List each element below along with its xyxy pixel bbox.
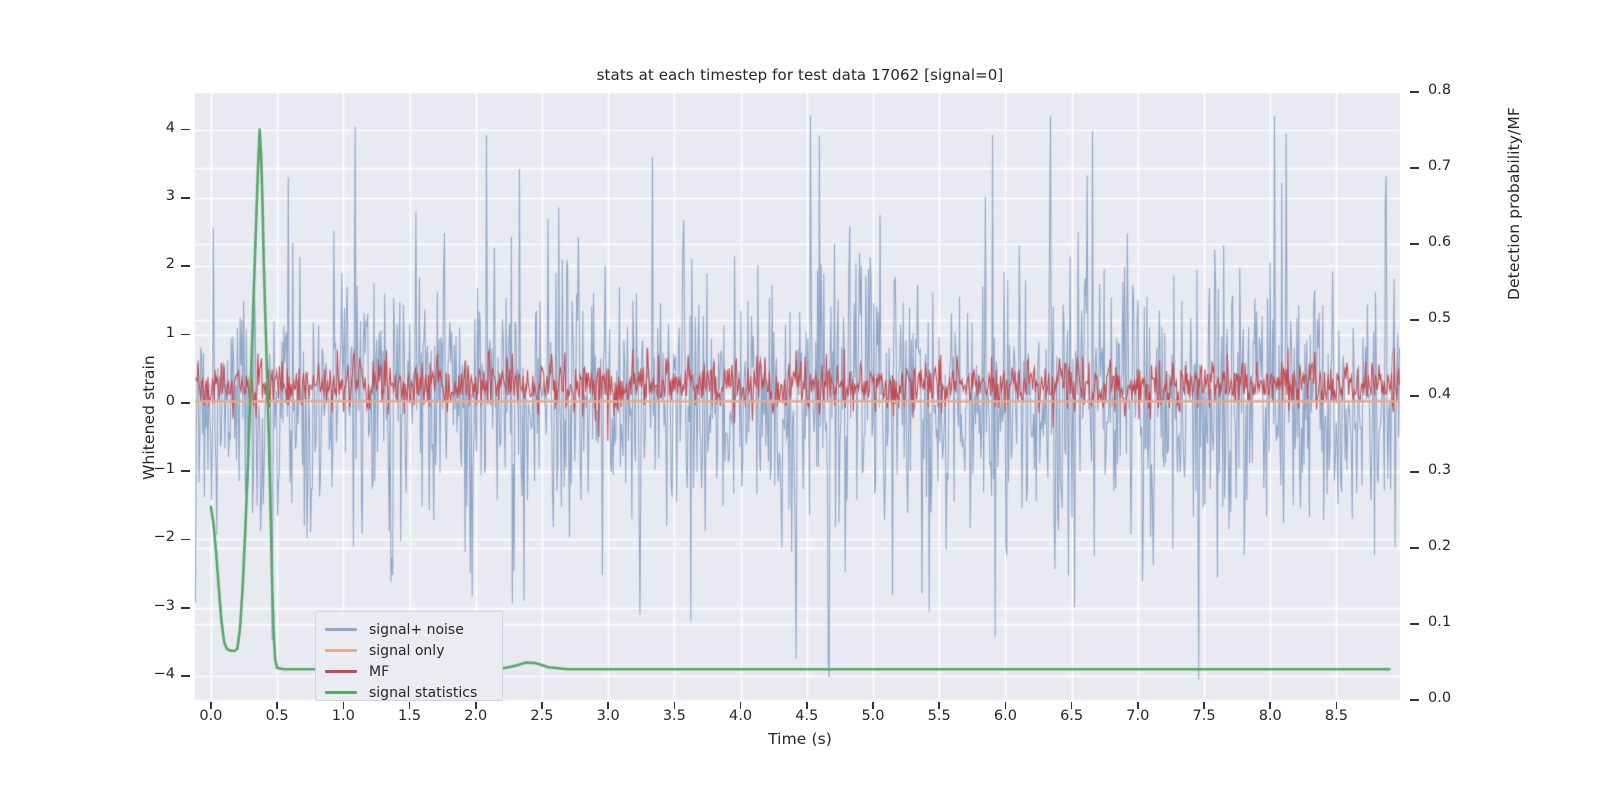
legend-label-2: MF: [369, 664, 389, 680]
x-tick-7-mark: [674, 702, 676, 709]
x-tick-1: 0.5: [247, 708, 307, 724]
x-tick-9: 4.5: [777, 708, 837, 724]
y-tick-left-1: 3: [123, 188, 175, 204]
y-tick-left-4-mark: [181, 402, 190, 404]
y-tick-left-8: −4: [123, 666, 175, 682]
legend-swatch-signal-statistics-icon: [325, 691, 357, 693]
x-tick-0-mark: [210, 702, 212, 709]
y-tick-right-0-mark: [1410, 91, 1419, 93]
x-tick-17-mark: [1336, 702, 1338, 709]
y-tick-right-3: 0.5: [1428, 310, 1488, 326]
x-tick-6: 3.0: [578, 708, 638, 724]
legend-item-3[interactable]: signal statistics: [316, 682, 502, 703]
x-tick-5: 2.5: [512, 708, 572, 724]
x-tick-3: 1.5: [380, 708, 440, 724]
y-tick-right-8-mark: [1410, 699, 1419, 701]
y-tick-left-6: −2: [123, 529, 175, 545]
chart-plot-area: [0, 0, 1600, 800]
x-tick-4-mark: [475, 702, 477, 709]
x-axis-label: Time (s): [0, 730, 1600, 748]
y-tick-right-8: 0.0: [1428, 690, 1488, 706]
y-tick-left-1-mark: [181, 197, 190, 199]
y-tick-left-5: −1: [123, 461, 175, 477]
y-tick-left-8-mark: [181, 675, 190, 677]
x-tick-10-mark: [872, 702, 874, 709]
y-axis-label-right: Detection probability/MF: [1505, 107, 1523, 300]
x-tick-6-mark: [607, 702, 609, 709]
y-tick-left-6-mark: [181, 539, 190, 541]
y-tick-right-0: 0.8: [1428, 82, 1488, 98]
x-tick-2: 1.0: [313, 708, 373, 724]
x-tick-0: 0.0: [181, 708, 241, 724]
x-tick-16-mark: [1269, 702, 1271, 709]
x-tick-12-mark: [1005, 702, 1007, 709]
x-tick-12: 6.0: [975, 708, 1035, 724]
y-tick-left-7-mark: [181, 607, 190, 609]
legend-item-1[interactable]: signal only: [316, 640, 502, 661]
legend-label-1: signal only: [369, 643, 444, 659]
y-tick-left-3-mark: [181, 334, 190, 336]
y-tick-left-7: −3: [123, 598, 175, 614]
legend-label-0: signal+ noise: [369, 622, 464, 638]
y-tick-right-2: 0.6: [1428, 234, 1488, 250]
x-tick-14: 7.0: [1108, 708, 1168, 724]
legend-swatch-signal-only-icon: [325, 649, 357, 651]
y-tick-left-4: 0: [123, 393, 175, 409]
x-tick-2-mark: [343, 702, 345, 709]
chart-legend[interactable]: signal+ noisesignal onlyMFsignal statist…: [315, 611, 503, 701]
legend-swatch-signal-noise-icon: [325, 628, 357, 630]
x-tick-17: 8.5: [1306, 708, 1366, 724]
x-tick-8-mark: [740, 702, 742, 709]
x-tick-1-mark: [276, 702, 278, 709]
x-tick-4: 2.0: [446, 708, 506, 724]
x-tick-9-mark: [806, 702, 808, 709]
y-tick-left-3: 1: [123, 325, 175, 341]
x-tick-5-mark: [541, 702, 543, 709]
x-tick-16: 8.0: [1240, 708, 1300, 724]
x-tick-13-mark: [1071, 702, 1073, 709]
y-tick-left-2: 2: [123, 256, 175, 272]
figure-canvas-container: stats at each timestep for test data 170…: [0, 0, 1600, 800]
x-tick-11: 5.5: [909, 708, 969, 724]
chart-title: stats at each timestep for test data 170…: [0, 66, 1600, 84]
x-tick-10: 5.0: [843, 708, 903, 724]
y-tick-right-5-mark: [1410, 471, 1419, 473]
y-tick-right-1: 0.7: [1428, 158, 1488, 174]
y-tick-right-7-mark: [1410, 623, 1419, 625]
y-tick-left-5-mark: [181, 470, 190, 472]
y-tick-right-3-mark: [1410, 319, 1419, 321]
legend-item-2[interactable]: MF: [316, 661, 502, 682]
legend-swatch-mf-icon: [325, 670, 357, 672]
y-tick-right-4-mark: [1410, 395, 1419, 397]
legend-item-0[interactable]: signal+ noise: [316, 619, 502, 640]
y-tick-right-6-mark: [1410, 547, 1419, 549]
legend-label-3: signal statistics: [369, 685, 477, 701]
x-tick-13: 6.5: [1042, 708, 1102, 724]
x-tick-8: 4.0: [711, 708, 771, 724]
x-tick-15: 7.5: [1174, 708, 1234, 724]
y-tick-right-2-mark: [1410, 243, 1419, 245]
x-tick-15-mark: [1203, 702, 1205, 709]
y-tick-left-2-mark: [181, 265, 190, 267]
y-tick-right-4: 0.4: [1428, 386, 1488, 402]
y-tick-right-7: 0.1: [1428, 614, 1488, 630]
y-tick-right-6: 0.2: [1428, 538, 1488, 554]
y-tick-left-0: 4: [123, 120, 175, 136]
y-tick-left-0-mark: [181, 129, 190, 131]
x-tick-11-mark: [938, 702, 940, 709]
x-tick-3-mark: [409, 702, 411, 709]
y-tick-right-1-mark: [1410, 167, 1419, 169]
x-tick-14-mark: [1137, 702, 1139, 709]
y-tick-right-5: 0.3: [1428, 462, 1488, 478]
x-tick-7: 3.5: [644, 708, 704, 724]
